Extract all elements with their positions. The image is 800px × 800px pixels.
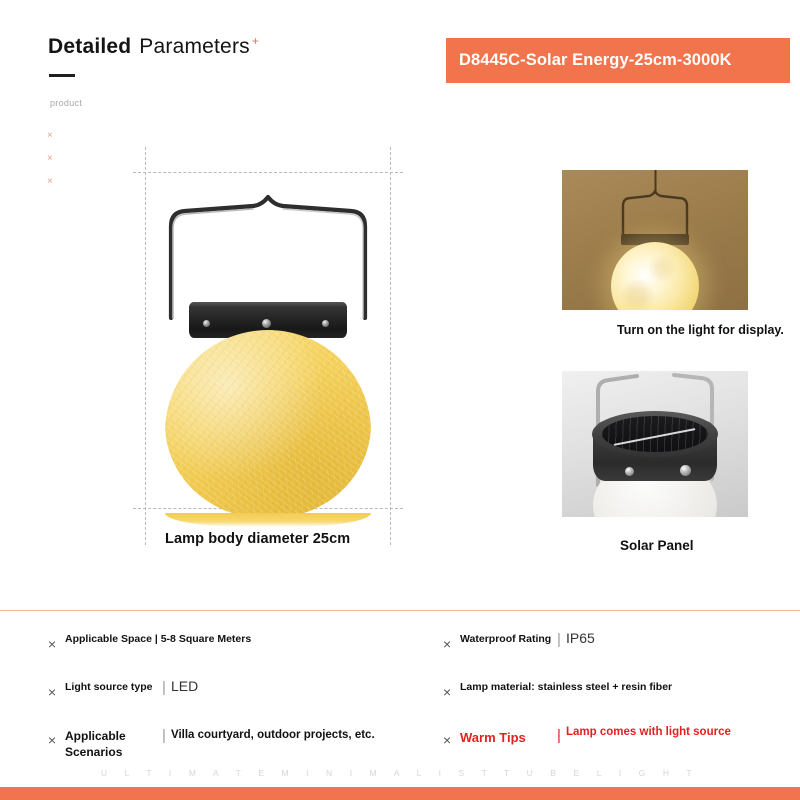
spec-label: Light source type <box>65 676 157 695</box>
bullet-x-icon: × <box>443 733 460 747</box>
spec-label: Waterproof Rating <box>460 628 552 647</box>
section-divider <box>0 610 800 611</box>
lit-lamp-photo <box>562 170 748 310</box>
main-product-image <box>145 180 391 510</box>
spec-label: Lamp material: stainless steel + resin f… <box>460 676 793 695</box>
model-banner-label: D8445C-Solar Energy-25cm-3000K <box>459 51 732 70</box>
lamp-handle-icon <box>165 180 371 320</box>
screw-icon <box>625 467 634 476</box>
product-detail-page: DetailedParameters+ product × × × D8445C… <box>0 0 800 800</box>
footer-accent-bar <box>0 787 800 800</box>
spec-row: × Applicable Scenarios | Villa courtyard… <box>48 724 418 761</box>
page-title-bold: Detailed <box>48 35 131 58</box>
bullet-x-icon: × <box>443 637 460 651</box>
spec-column-right: × Waterproof Rating | IP65 × Lamp materi… <box>443 628 793 772</box>
solar-panel-caption: Solar Panel <box>620 538 694 553</box>
spec-row: × Waterproof Rating | IP65 <box>443 628 793 662</box>
spec-label: Applicable Space | 5-8 Square Meters <box>65 628 418 647</box>
spec-separator: | <box>157 676 171 695</box>
spec-column-left: × Applicable Space | 5-8 Square Meters ×… <box>48 628 418 775</box>
lit-lamp-globe <box>611 242 699 310</box>
page-title: DetailedParameters+ <box>48 34 259 59</box>
screw-icon <box>203 320 210 327</box>
spec-row-warning: × Warm Tips | Lamp comes with light sour… <box>443 724 793 758</box>
lamp-globe <box>165 330 371 526</box>
screw-icon <box>262 319 271 328</box>
bullet-x-icon: × <box>48 733 65 747</box>
spec-row: × Light source type | LED <box>48 676 418 710</box>
side-marker-icon: × <box>47 131 53 141</box>
spec-row: × Lamp material: stainless steel + resin… <box>443 676 793 710</box>
title-underline <box>49 74 75 77</box>
spec-label: Applicable Scenarios <box>65 724 157 761</box>
screw-icon <box>322 320 329 327</box>
bullet-x-icon: × <box>443 685 460 699</box>
spec-value: IP65 <box>566 628 595 647</box>
solar-cell-surface <box>602 416 708 452</box>
lit-lamp-handle-icon <box>618 190 692 240</box>
spec-separator: | <box>552 724 566 743</box>
side-marker-list: × × × <box>47 131 53 187</box>
spec-label-warning: Warm Tips <box>460 724 552 746</box>
spec-separator: | <box>552 628 566 647</box>
spec-value: LED <box>171 676 198 695</box>
side-marker-icon: × <box>47 154 53 164</box>
spec-separator: | <box>157 724 171 743</box>
page-subtitle: product <box>50 98 82 108</box>
measure-guide-top <box>133 172 403 173</box>
model-banner: D8445C-Solar Energy-25cm-3000K <box>446 38 790 83</box>
side-marker-icon: × <box>47 177 53 187</box>
main-image-caption: Lamp body diameter 25cm <box>165 531 350 547</box>
page-title-light: Parameters <box>139 35 250 58</box>
plus-icon: + <box>252 34 259 48</box>
bullet-x-icon: × <box>48 685 65 699</box>
spec-value-warning: Lamp comes with light source <box>566 724 731 740</box>
spec-value: Villa courtyard, outdoor projects, etc. <box>171 724 375 743</box>
lit-lamp-caption: Turn on the light for display. <box>617 322 784 338</box>
bullet-x-icon: × <box>48 637 65 651</box>
footer-tagline: U L T I M A T E M I N I M A L I S T T U … <box>0 768 800 778</box>
lamp-globe-base <box>165 513 371 527</box>
spec-row: × Applicable Space | 5-8 Square Meters <box>48 628 418 662</box>
screw-icon <box>680 465 691 476</box>
solar-panel-photo <box>562 371 748 517</box>
